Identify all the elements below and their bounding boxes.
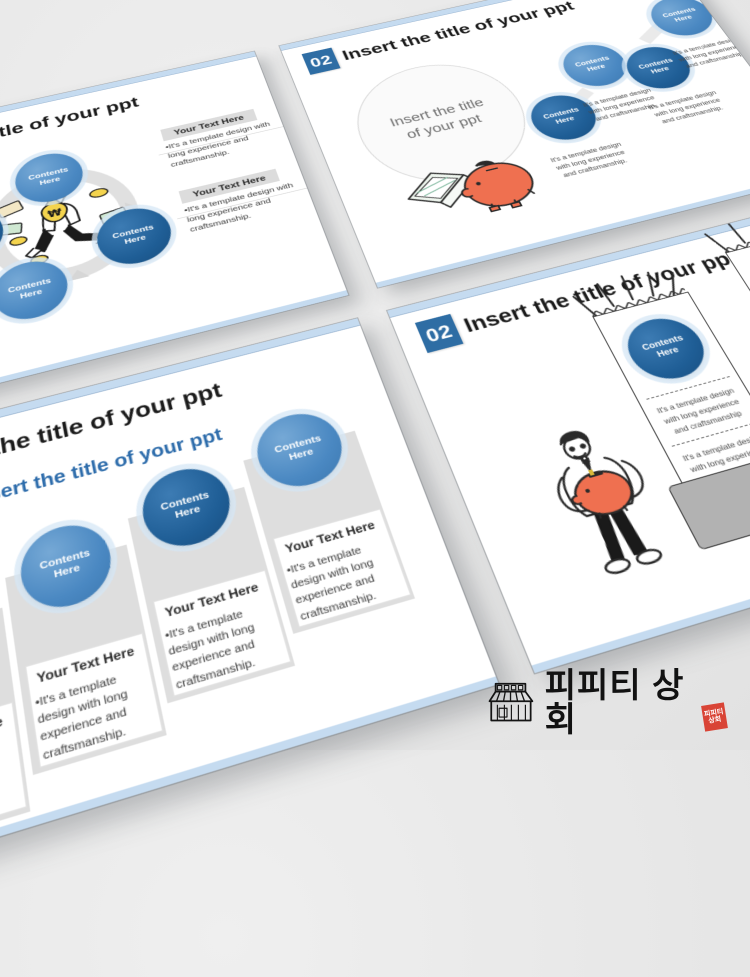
receipt-divider xyxy=(672,422,750,447)
man-holding-piggy-bank-illustration xyxy=(517,410,710,608)
column-text-card xyxy=(153,570,292,697)
receipt-body-1a: It's a template design with long experie… xyxy=(653,385,750,439)
storefront-icon xyxy=(486,679,537,727)
node-label-line1: Contents xyxy=(641,334,686,354)
page-title: Insert the title of your ppt xyxy=(0,374,226,487)
column-text-card xyxy=(25,633,163,768)
page-title: Insert the title of your ppt xyxy=(338,0,579,67)
column-backdrop xyxy=(128,487,295,703)
column-header-4: Your Text Here xyxy=(278,514,382,560)
column-text-card xyxy=(273,508,412,627)
column-backdrop xyxy=(5,545,167,775)
printer-machine-1 xyxy=(667,451,750,550)
column-header-2: Your Text Here xyxy=(30,639,141,691)
slide-subtitle: Insert the title of your ppt xyxy=(0,425,224,512)
brand-seal-stamp: 피피티 상회 xyxy=(701,702,728,731)
staircase-description-4: It's a template design with long experie… xyxy=(671,36,750,71)
slide-heading: 03 Insert the title of your ppt xyxy=(0,374,226,501)
node-label-line1: Contents xyxy=(273,433,322,456)
receipt-body-1b: It's a template design with long experie… xyxy=(678,431,750,488)
node-label-line2: Here xyxy=(276,443,326,466)
receipt-2[interactable]: It's a template design with long experie… xyxy=(725,229,750,422)
staircase-node-2[interactable]: Contents Here xyxy=(554,40,636,92)
seal-text: 피피티 상회 xyxy=(704,708,725,726)
column-header-3: Your Text Here xyxy=(158,575,265,624)
staircase-description-3: It's a template design with long experie… xyxy=(646,89,729,127)
column-node-2[interactable]: Contents Here xyxy=(16,516,118,618)
slide-bottom-band xyxy=(532,500,750,673)
slide-deck-stage: 01 Insert the title of your ppt xyxy=(0,0,750,750)
column-body-3: •It's a template design with long experi… xyxy=(164,599,287,694)
receipt-divider xyxy=(646,376,730,400)
column-backdrop xyxy=(0,608,30,854)
node-label-line2: Here xyxy=(162,500,213,525)
column-body-4: •It's a template design with long experi… xyxy=(285,536,407,626)
node-label-line1: Contents xyxy=(159,489,210,513)
brand-name: 피피티 상회 xyxy=(545,669,695,737)
slide-heading: 02 Insert the title of your ppt xyxy=(302,0,579,75)
slide-deck: 01 Insert the title of your ppt xyxy=(0,0,750,928)
node-label-line2: Here xyxy=(646,343,691,363)
column-backdrop xyxy=(243,431,415,634)
column-node-4[interactable]: Contents Here xyxy=(249,405,352,495)
node-label-line1: Contents xyxy=(39,547,91,573)
slide-number-badge: 02 xyxy=(302,48,341,75)
node-label-line2: Here xyxy=(41,558,94,584)
column-node-3[interactable]: Contents Here xyxy=(136,460,239,556)
brand-logo: 피피티 상회 피피티 상회 xyxy=(486,672,726,734)
staircase-description-1: It's a template design with long experie… xyxy=(548,140,633,181)
slide-number-badge: 02 xyxy=(415,314,464,353)
